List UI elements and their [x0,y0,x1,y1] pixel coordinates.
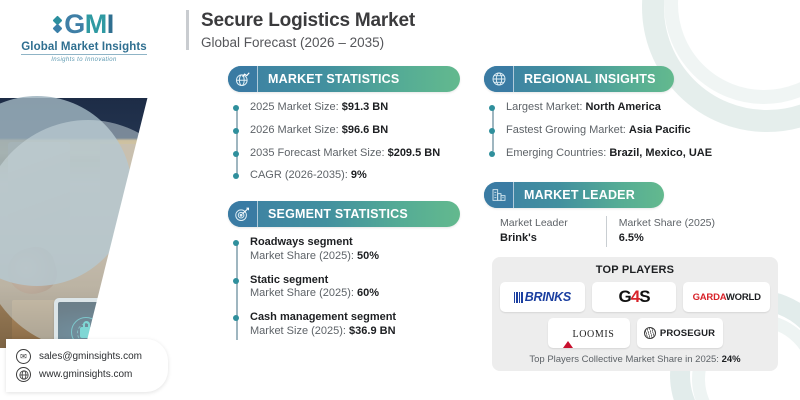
diamond-icon [54,17,61,32]
stat-label: 2025 Market Size: [250,101,339,113]
contact-email-row[interactable]: ✉ sales@gminsights.com [16,349,142,364]
top-players-row-2: LOOMIS PROSEGUR [500,318,770,348]
gmi-logo[interactable]: GMI Global Market Insights Insights to I… [8,8,160,64]
list-item: Emerging Countries: Brazil, Mexico, UAE [506,147,784,161]
list-item: Roadways segment Market Share (2025): 50… [250,236,460,264]
contact-website: www.gminsights.com [39,369,132,380]
market-leader-header[interactable]: MARKET LEADER [484,182,664,208]
market-statistics-list: 2025 Market Size: $91.3 BN 2026 Market S… [228,92,460,187]
player-logo-g4s[interactable]: G4S [592,282,677,312]
regional-insights-label: REGIONAL INSIGHTS [514,72,656,86]
leader-label: Market Leader [500,217,568,229]
regional-insights-header[interactable]: REGIONAL INSIGHTS [484,66,674,92]
stat-value: $96.6 BN [342,124,388,136]
list-item: Fastest Growing Market: Asia Pacific [506,124,784,138]
loomis-wordmark: LOOMIS [573,329,615,340]
region-value: Asia Pacific [629,124,691,136]
g4s-four: 4 [631,287,639,306]
g4s-s: S [639,287,649,306]
player-logo-loomis[interactable]: LOOMIS [548,318,630,348]
market-statistics-section: MARKET STATISTICS 2025 Market Size: $91.… [228,66,460,187]
top-players-row-1: BRINKS G4S GARDAWORLD [500,282,770,312]
triangle-icon [563,324,573,348]
list-item: Cash management segment Market Size (202… [250,311,460,339]
logo-mark-row: GMI [54,9,114,40]
logo-wordmark: GMI [64,9,114,40]
player-logo-gardaworld[interactable]: GARDAWORLD [683,282,770,312]
list-item: Largest Market: North America [506,101,784,115]
stat-value: $91.3 BN [342,101,388,113]
segment-statistics-label: SEGMENT STATISTICS [258,207,408,221]
g4s-logo: G4S [618,287,649,307]
segment-statistics-section: SEGMENT STATISTICS Roadways segment Mark… [228,201,460,353]
segment-title: Cash management segment [250,311,460,325]
segment-value: 60% [357,287,379,299]
segment-label: Market Share (2025): [250,287,354,299]
g4s-g: G [618,287,630,306]
list-item: 2035 Forecast Market Size: $209.5 BN [250,147,460,161]
globe-icon [644,327,656,339]
stat-label: CAGR (2026-2035): [250,169,348,181]
globe-icon [484,66,514,92]
prosegur-logo: PROSEGUR [644,327,715,339]
prosegur-wordmark: PROSEGUR [660,328,715,339]
player-logo-prosegur[interactable]: PROSEGUR [637,318,723,348]
segment-value: $36.9 BN [349,325,395,337]
page-title-block: Secure Logistics Market Global Forecast … [186,10,415,50]
segment-title: Roadways segment [250,236,460,250]
region-label: Emerging Countries: [506,147,606,159]
garda-red: GARDA [693,292,726,303]
regional-insights-section: REGIONAL INSIGHTS Largest Market: North … [484,66,784,164]
page-title: Secure Logistics Market [201,10,415,32]
globe-chart-icon [228,66,258,92]
factory-icon [484,182,514,208]
share-value: 6.5% [619,231,715,247]
region-value: Brazil, Mexico, UAE [609,147,712,159]
contact-card: ✉ sales@gminsights.com www.gminsights.co… [6,339,168,392]
list-item: CAGR (2026-2035): 9% [250,169,460,183]
share-label: Market Share (2025) [619,217,715,229]
market-leader-section: MARKET LEADER Market Leader Brink's Mark… [484,182,784,253]
segment-title: Static segment [250,274,460,288]
segment-statistics-header[interactable]: SEGMENT STATISTICS [228,201,460,227]
logo-tagline: Insights to Innovation [51,57,117,63]
left-column: MARKET STATISTICS 2025 Market Size: $91.… [228,66,460,353]
collective-share-label: Top Players Collective Market Share in 2… [529,354,719,365]
right-column: REGIONAL INSIGHTS Largest Market: North … [484,66,784,371]
leader-share-cell: Market Share (2025) 6.5% [606,216,715,247]
market-statistics-header[interactable]: MARKET STATISTICS [228,66,460,92]
brinks-bars-icon [514,292,523,303]
list-item: 2026 Market Size: $96.6 BN [250,124,460,138]
player-logo-brinks[interactable]: BRINKS [500,282,585,312]
page-subtitle: Global Forecast (2026 – 2035) [201,35,415,50]
brinks-wordmark: BRINKS [525,290,571,304]
stat-label: 2026 Market Size: [250,124,339,136]
segment-label: Market Size (2025): [250,325,346,337]
segment-statistics-list: Roadways segment Market Share (2025): 50… [228,227,460,353]
market-leader-details: Market Leader Brink's Market Share (2025… [484,208,784,253]
list-item: Static segment Market Share (2025): 60% [250,274,460,302]
globe-icon [16,367,31,382]
top-players-title: TOP PLAYERS [500,264,770,276]
contact-email: sales@gminsights.com [39,351,142,362]
logo-company-name: Global Market Insights [21,41,147,55]
stat-label: 2035 Forecast Market Size: [250,147,385,159]
segment-value: 50% [357,250,379,262]
gardaworld-logo: GARDAWORLD [693,292,761,303]
brinks-logo: BRINKS [514,290,571,304]
region-label: Fastest Growing Market: [506,124,626,136]
leader-cell: Market Leader Brink's [500,216,568,247]
collective-share-value: 24% [722,354,741,365]
segment-label: Market Share (2025): [250,250,354,262]
market-leader-label: MARKET LEADER [514,188,635,202]
envelope-icon: ✉ [16,349,31,364]
garda-dark: WORLD [726,292,761,303]
top-players-footer: Top Players Collective Market Share in 2… [500,354,770,365]
infographic-page: CYBER SECURITY data - protect informatio… [0,0,800,400]
stat-value: $209.5 BN [388,147,441,159]
leader-value: Brink's [500,231,568,247]
loomis-logo: LOOMIS [563,324,615,342]
stat-value: 9% [351,169,367,181]
market-statistics-label: MARKET STATISTICS [258,72,399,86]
contact-website-row[interactable]: www.gminsights.com [16,367,142,382]
target-chart-icon [228,201,258,227]
region-value: North America [585,101,660,113]
regional-insights-list: Largest Market: North America Fastest Gr… [484,92,784,164]
region-label: Largest Market: [506,101,582,113]
top-players-card: TOP PLAYERS BRINKS G4S [492,257,778,371]
list-item: 2025 Market Size: $91.3 BN [250,101,460,115]
